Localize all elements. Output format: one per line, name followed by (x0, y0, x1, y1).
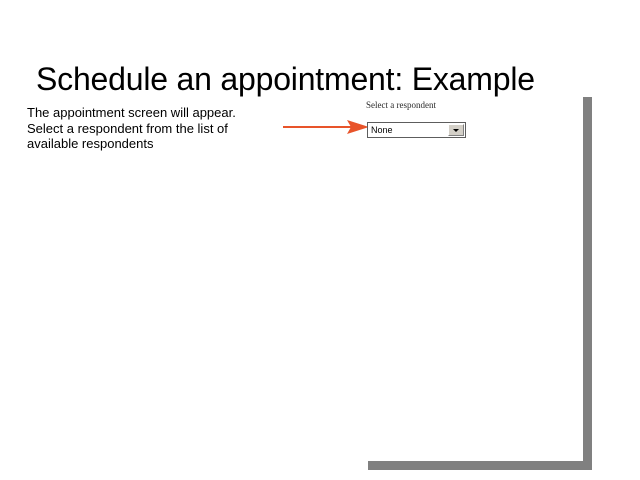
callout-arrow-icon (283, 118, 369, 136)
screenshot-shadow-right (583, 97, 592, 470)
chevron-down-icon[interactable] (448, 124, 464, 136)
slide-canvas: Schedule an appointment: Example The app… (0, 0, 640, 480)
caret-glyph (453, 129, 459, 132)
instruction-text: The appointment screen will appear. Sele… (27, 105, 259, 152)
respondent-dropdown[interactable]: None (367, 122, 466, 138)
respondent-field-label: Select a respondent (366, 100, 436, 111)
page-title: Schedule an appointment: Example (36, 60, 606, 98)
screenshot-shadow-bottom (368, 461, 592, 470)
respondent-dropdown-value: None (368, 123, 448, 137)
